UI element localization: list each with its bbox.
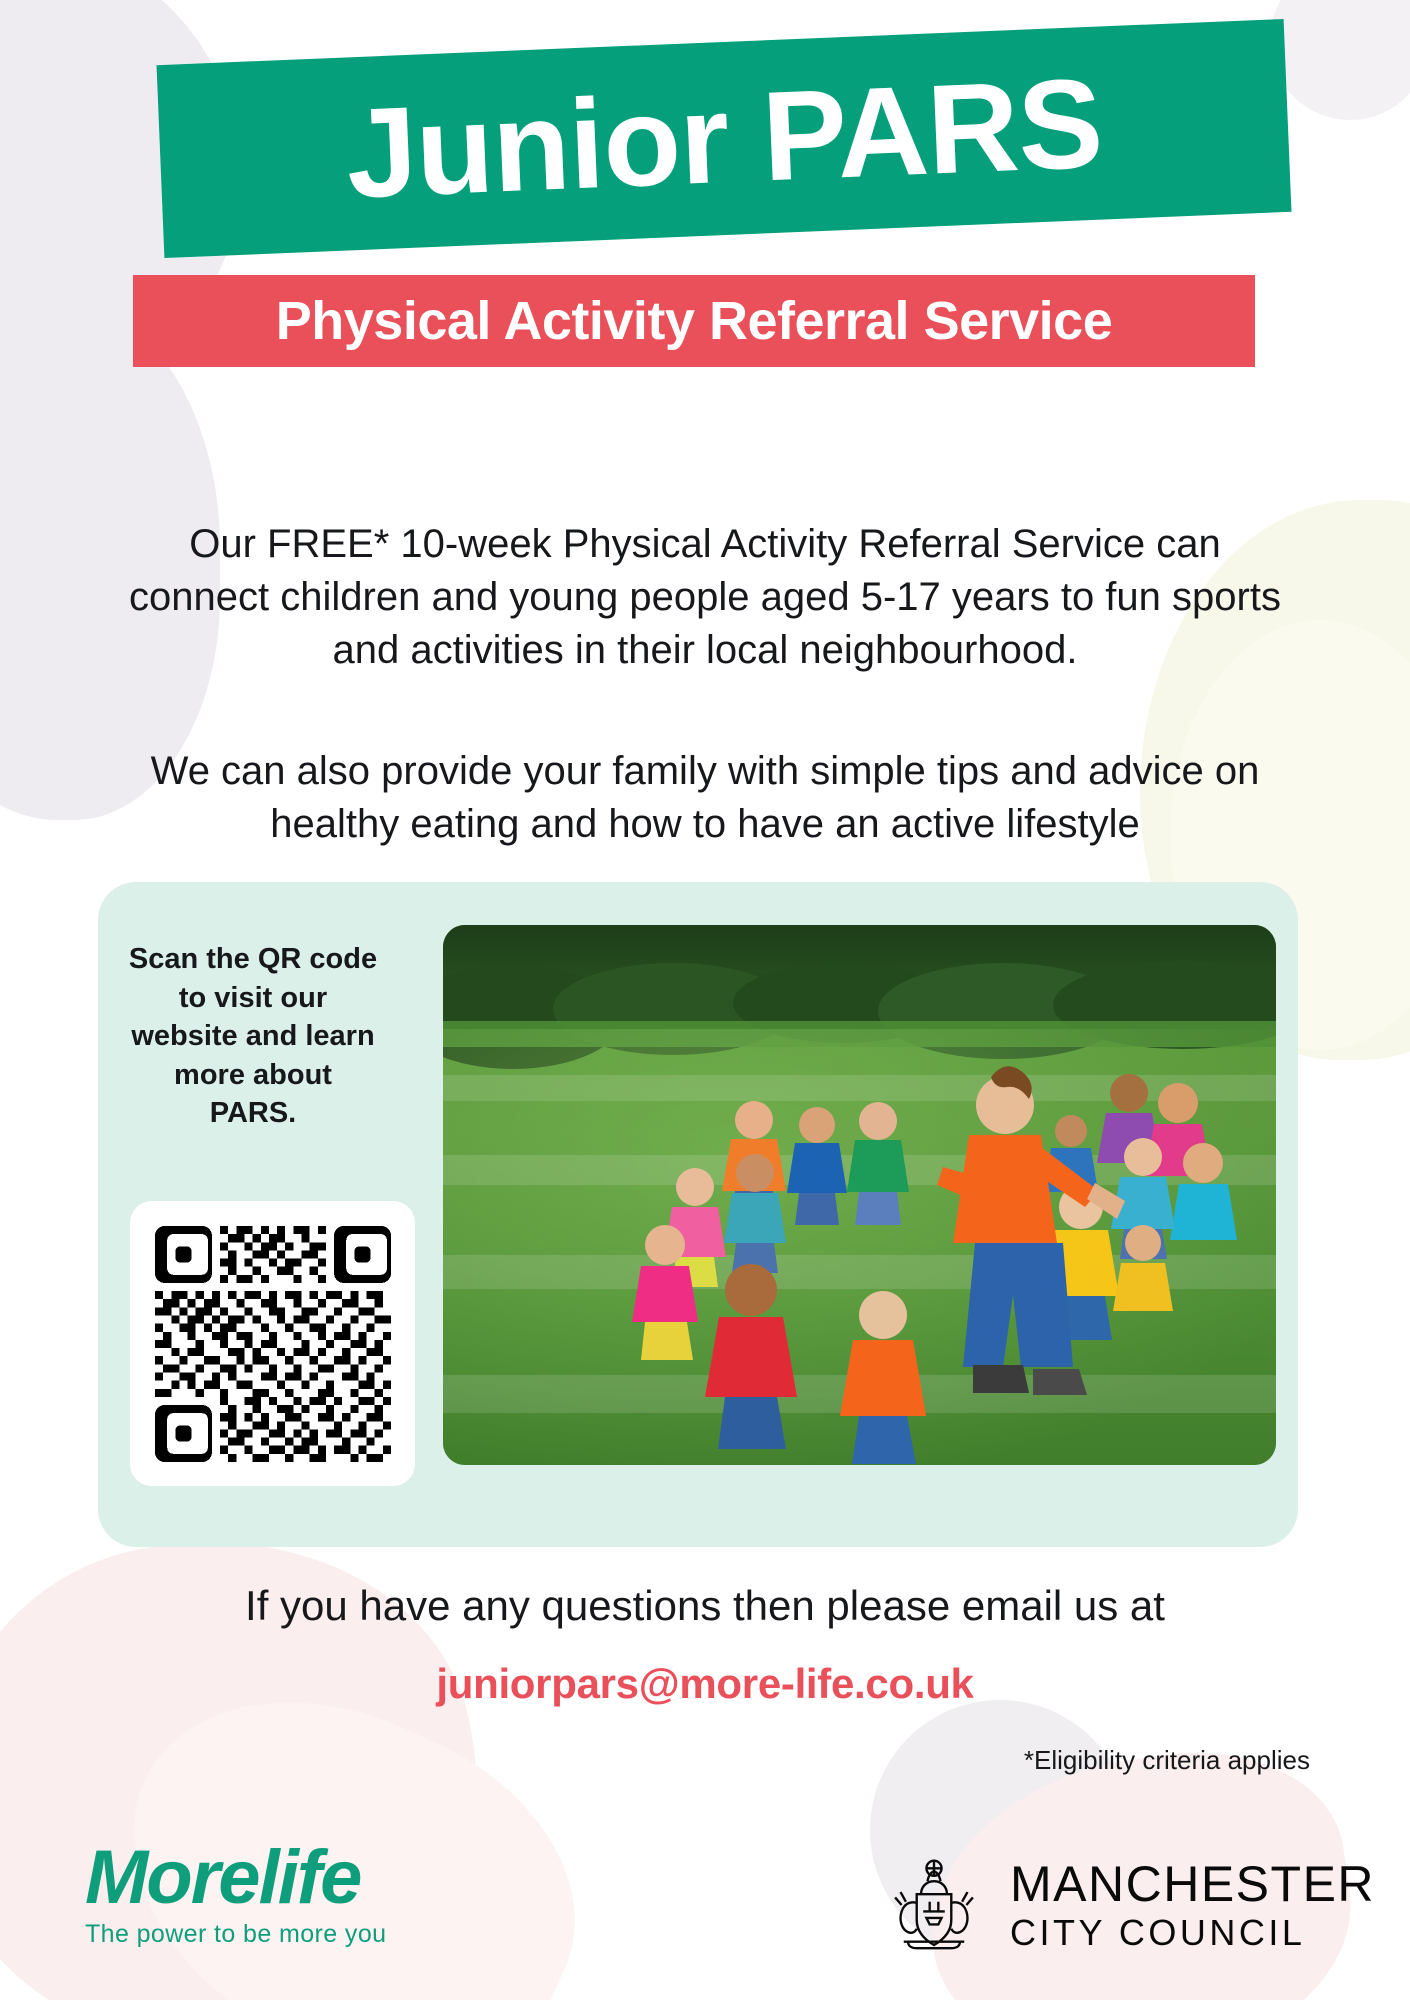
activity-photo	[443, 925, 1276, 1465]
title-banner-green: Junior PARS	[157, 19, 1292, 258]
contact-email-link[interactable]: juniorpars@more-life.co.uk	[120, 1660, 1290, 1708]
page-subtitle: Physical Activity Referral Service	[276, 294, 1112, 348]
qr-code-card[interactable]	[130, 1201, 415, 1486]
council-line-1: MANCHESTER	[1010, 1859, 1375, 1909]
council-crest-icon	[880, 1851, 988, 1959]
council-wordmark: MANCHESTER CITY COUNCIL	[1010, 1859, 1375, 1951]
morelife-logo: Morelife The power to be more you	[85, 1840, 415, 1960]
secondary-paragraph: We can also provide your family with sim…	[120, 745, 1290, 851]
qr-code-icon[interactable]	[155, 1226, 391, 1462]
page-title-bold: PARS	[760, 52, 1105, 208]
intro-paragraph: Our FREE* 10-week Physical Activity Refe…	[120, 518, 1290, 676]
morelife-wordmark: Morelife	[85, 1840, 415, 1916]
page-title: Junior PARS	[344, 60, 1104, 218]
poster-page: Junior PARS Physical Activity Referral S…	[0, 0, 1410, 2000]
contact-prompt: If you have any questions then please em…	[120, 1580, 1290, 1633]
council-line-2: CITY COUNCIL	[1010, 1915, 1375, 1951]
morelife-tagline: The power to be more you	[85, 1920, 415, 1949]
page-title-light: Junior	[343, 67, 731, 225]
subtitle-banner-red: Physical Activity Referral Service	[133, 275, 1255, 367]
qr-caption-text: Scan the QR code to visit our website an…	[128, 940, 378, 1133]
eligibility-note: *Eligibility criteria applies	[120, 1745, 1310, 1776]
manchester-city-council-logo: MANCHESTER CITY COUNCIL	[880, 1845, 1310, 1965]
